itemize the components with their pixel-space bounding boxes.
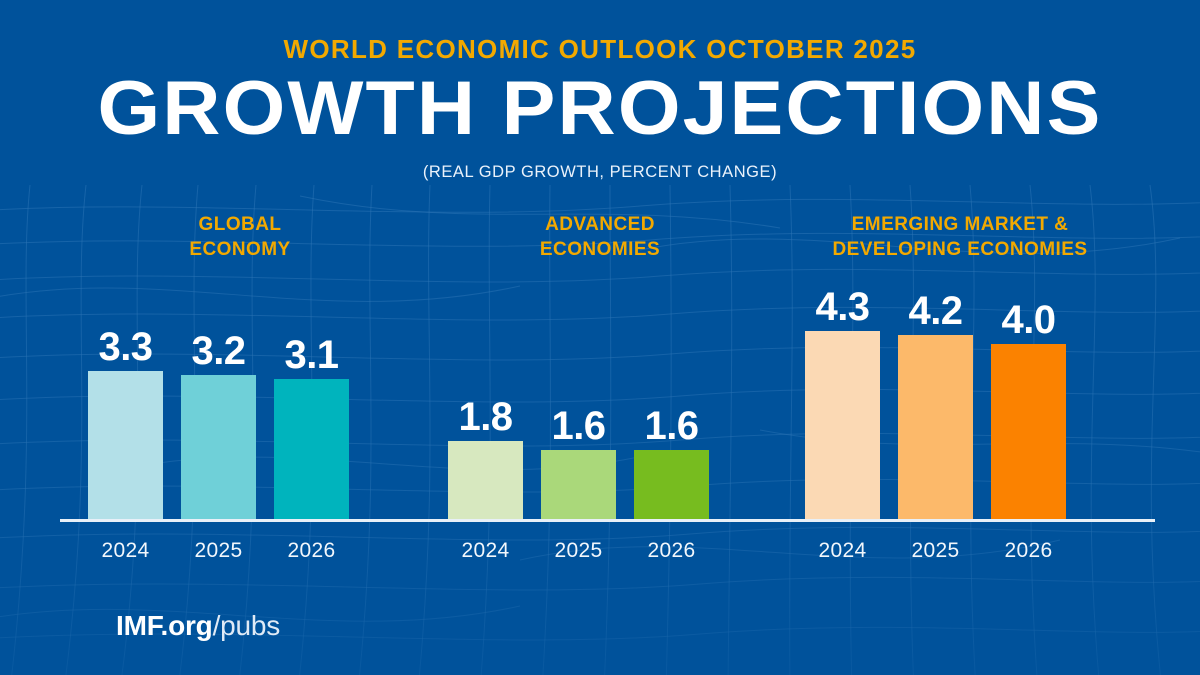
bar-fill-emde-2024 (805, 331, 880, 519)
footer-brand-path: /pubs (213, 610, 281, 641)
bar-fill-advanced-2025 (541, 450, 616, 519)
page-title: GROWTH PROJECTIONS (0, 71, 1200, 147)
bar-fill-global-2025 (181, 375, 256, 519)
bar-value-advanced-2026: 1.6 (644, 406, 698, 446)
bar-year-emde-2026: 2026 (1005, 540, 1053, 561)
bar-value-advanced-2024: 1.8 (458, 397, 512, 437)
bar-year-global-2025: 2025 (195, 540, 243, 561)
bar-year-emde-2024: 2024 (819, 540, 867, 561)
infographic-poster: WORLD ECONOMIC OUTLOOK OCTOBER 2025 GROW… (0, 0, 1200, 675)
bar-global-2026: 3.1 2026 (274, 379, 349, 519)
bar-value-global-2025: 3.2 (191, 331, 245, 371)
panel-global-economy: GLOBAL ECONOMY 3.3 2024 3.2 2025 3.1 202… (60, 212, 420, 552)
plot-emerging-market-developing-economies: 4.3 2024 4.2 2025 4.0 2026 (765, 272, 1155, 522)
plot-advanced-economies: 1.8 2024 1.6 2025 1.6 2026 (420, 272, 780, 522)
panel-title-line-2: DEVELOPING ECONOMIES (833, 239, 1088, 260)
bar-value-emde-2024: 4.3 (815, 287, 869, 327)
bar-value-emde-2026: 4.0 (1001, 300, 1055, 340)
bar-emde-2024: 4.3 2024 (805, 331, 880, 519)
panel-title-advanced-economies: ADVANCED ECONOMIES (420, 212, 780, 262)
bar-global-2024: 3.3 2024 (88, 371, 163, 519)
bar-fill-emde-2026 (991, 344, 1066, 519)
bar-year-emde-2025: 2025 (912, 540, 960, 561)
panel-title-line-2: ECONOMIES (540, 239, 660, 260)
bar-year-global-2024: 2024 (102, 540, 150, 561)
panel-title-line-1: ADVANCED (545, 214, 655, 235)
bar-year-global-2026: 2026 (288, 540, 336, 561)
footer-brand-name: IMF.org (116, 610, 213, 641)
poster-header: WORLD ECONOMIC OUTLOOK OCTOBER 2025 GROW… (0, 0, 1200, 181)
bar-value-emde-2025: 4.2 (908, 291, 962, 331)
bar-advanced-2026: 1.6 2026 (634, 450, 709, 519)
bar-value-global-2024: 3.3 (98, 327, 152, 367)
bar-advanced-2025: 1.6 2025 (541, 450, 616, 519)
panel-emerging-market-developing-economies: EMERGING MARKET & DEVELOPING ECONOMIES 4… (765, 212, 1155, 552)
axis-baseline (60, 519, 420, 522)
bar-fill-global-2024 (88, 371, 163, 519)
panel-title-emerging-market-developing-economies: EMERGING MARKET & DEVELOPING ECONOMIES (765, 212, 1155, 262)
eyebrow-title: WORLD ECONOMIC OUTLOOK OCTOBER 2025 (0, 36, 1200, 62)
panel-title-global-economy: GLOBAL ECONOMY (60, 212, 420, 262)
page-subtitle: (REAL GDP GROWTH, PERCENT CHANGE) (0, 164, 1200, 181)
bar-fill-global-2026 (274, 379, 349, 519)
panel-title-line-1: EMERGING MARKET & (852, 214, 1069, 235)
bar-emde-2026: 4.0 2026 (991, 344, 1066, 519)
bar-year-advanced-2026: 2026 (648, 540, 696, 561)
bar-value-global-2026: 3.1 (284, 335, 338, 375)
bar-advanced-2024: 1.8 2024 (448, 441, 523, 519)
plot-global-economy: 3.3 2024 3.2 2025 3.1 2026 (60, 272, 420, 522)
bar-fill-advanced-2024 (448, 441, 523, 519)
bar-fill-advanced-2026 (634, 450, 709, 519)
bar-value-advanced-2025: 1.6 (551, 406, 605, 446)
bar-global-2025: 3.2 2025 (181, 375, 256, 519)
axis-baseline (765, 519, 1155, 522)
footer-brand[interactable]: IMF.org/pubs (116, 612, 280, 640)
bar-fill-emde-2025 (898, 335, 973, 519)
bar-year-advanced-2025: 2025 (555, 540, 603, 561)
panel-advanced-economies: ADVANCED ECONOMIES 1.8 2024 1.6 2025 1.6… (420, 212, 780, 552)
bar-year-advanced-2024: 2024 (462, 540, 510, 561)
bar-emde-2025: 4.2 2025 (898, 335, 973, 519)
panel-title-line-1: GLOBAL (199, 214, 282, 235)
panel-title-line-2: ECONOMY (189, 239, 290, 260)
axis-baseline (420, 519, 780, 522)
